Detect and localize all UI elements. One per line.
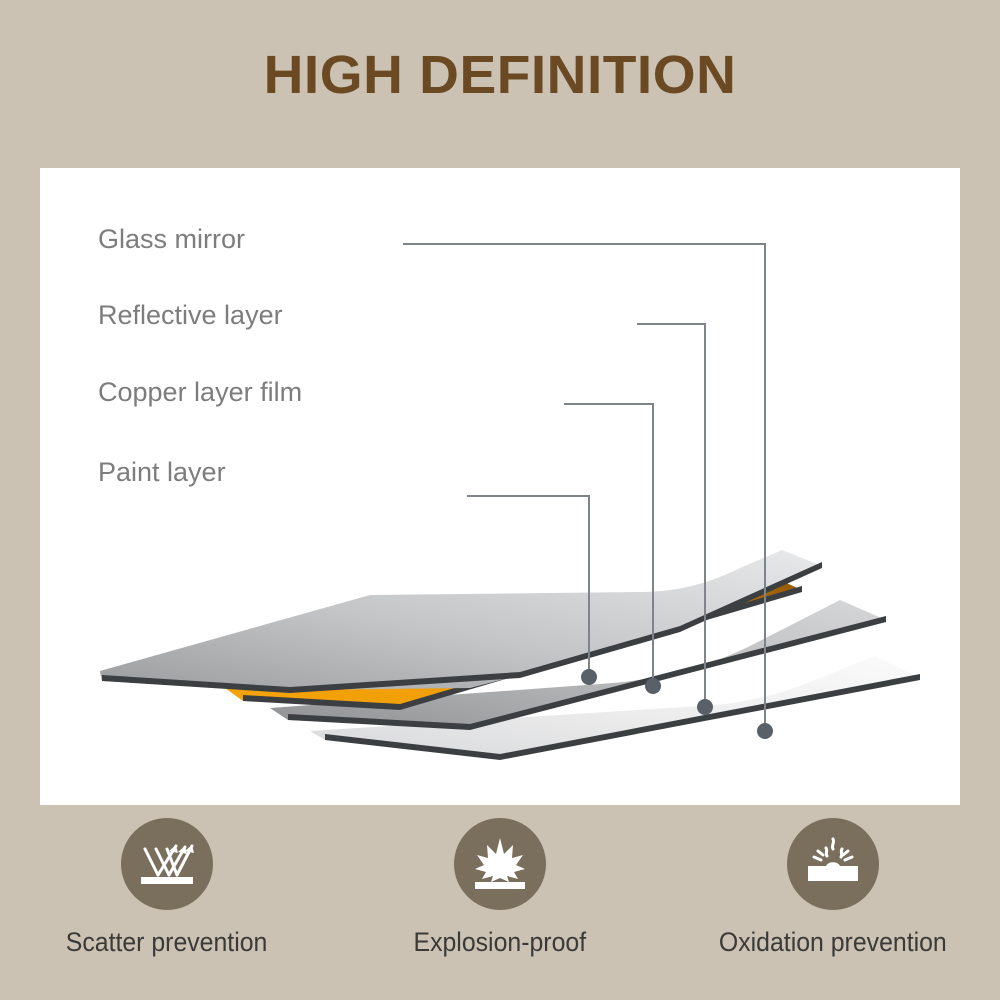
feature-item-scatter-prevention: Scatter prevention: [0, 818, 333, 1000]
layer-label-copper-layer-film: Copper layer film: [98, 377, 302, 407]
feature-label: Explosion-proof: [414, 926, 587, 958]
leader-dot-paint-layer: [581, 669, 597, 685]
leader-dot-glass-mirror: [757, 723, 773, 739]
layer-label-paint-layer: Paint layer: [98, 457, 226, 487]
feature-label: Oxidation prevention: [719, 926, 947, 958]
page-title: HIGH DEFINITION: [0, 44, 1000, 106]
impact-splash-icon: [802, 835, 864, 893]
feature-label: Scatter prevention: [66, 926, 268, 958]
feature-icon-circle: [121, 818, 213, 910]
feature-icon-circle: [454, 818, 546, 910]
layer-label-reflective-layer: Reflective layer: [98, 300, 283, 330]
scatter-reflection-icon: [136, 835, 198, 893]
feature-item-explosion-proof: Explosion-proof: [333, 818, 666, 1000]
feature-list: Scatter prevention Explosion-proof: [0, 818, 1000, 1000]
leader-dot-copper-layer-film: [645, 678, 661, 694]
feature-item-oxidation-prevention: Oxidation prevention: [667, 818, 1000, 1000]
layer-label-glass-mirror: Glass mirror: [98, 224, 245, 254]
feature-icon-circle: [787, 818, 879, 910]
leader-reflective-layer: [637, 324, 705, 707]
leader-dot-reflective-layer: [697, 699, 713, 715]
explosion-burst-icon: [469, 835, 531, 893]
layer-shape-glass: [100, 550, 822, 693]
